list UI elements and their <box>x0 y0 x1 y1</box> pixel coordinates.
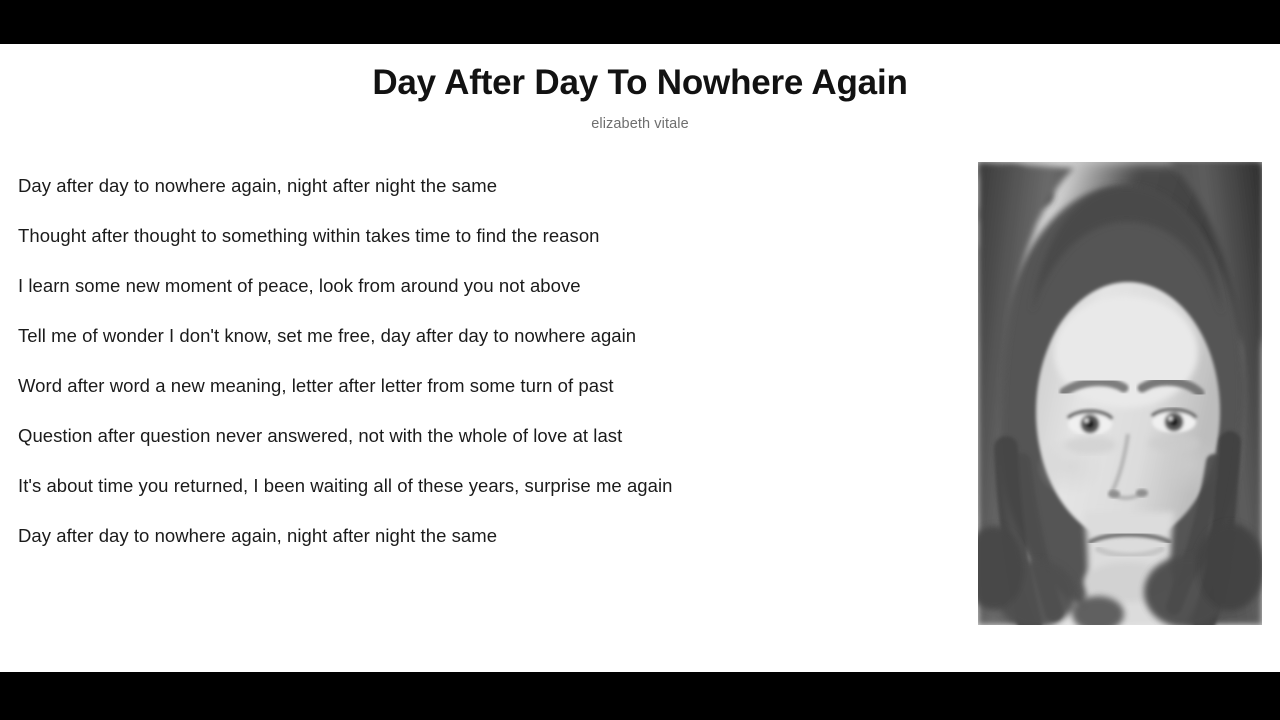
lyrics-content: Day after day to nowhere again, night af… <box>0 132 1280 602</box>
lyric-line: Word after word a new meaning, letter af… <box>18 377 958 396</box>
lyric-line: Day after day to nowhere again, night af… <box>18 177 958 196</box>
lyric-line: It's about time you returned, I been wai… <box>18 477 958 496</box>
lyric-line: Question after question never answered, … <box>18 427 958 446</box>
letterbox-bar-top <box>0 0 1280 44</box>
lyric-line: I learn some new moment of peace, look f… <box>18 277 958 296</box>
lyrics-block: Day after day to nowhere again, night af… <box>18 177 958 546</box>
letterbox-bar-bottom <box>0 672 1280 720</box>
lyrics-page: Day After Day To Nowhere Again elizabeth… <box>0 44 1280 672</box>
lyric-line: Thought after thought to something withi… <box>18 227 958 246</box>
lyric-line: Day after day to nowhere again, night af… <box>18 527 958 546</box>
lyric-line: Tell me of wonder I don't know, set me f… <box>18 327 958 346</box>
page-title: Day After Day To Nowhere Again <box>0 62 1280 103</box>
artist-name: elizabeth vitale <box>0 116 1280 132</box>
portrait-photo <box>978 162 1262 625</box>
song-header: Day After Day To Nowhere Again elizabeth… <box>0 44 1280 132</box>
